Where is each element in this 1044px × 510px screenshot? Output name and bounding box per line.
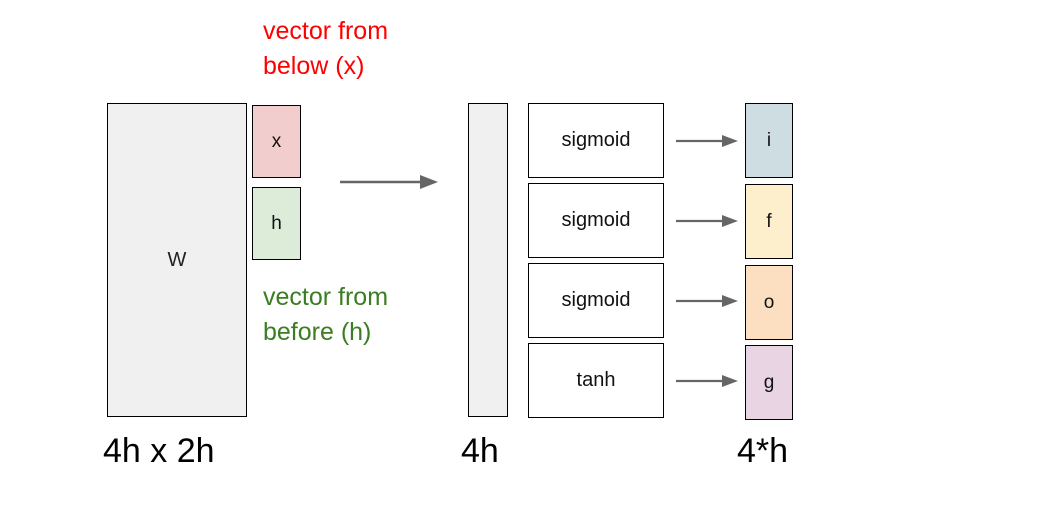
matmul-arrow-icon (340, 172, 438, 192)
gate-box-input: sigmoid (528, 103, 664, 178)
dimension-caption-outputs: 4*h (737, 432, 788, 471)
dimension-caption-preactivation: 4h (461, 432, 499, 471)
weight-matrix-label: W (168, 249, 187, 272)
gate-function-label: sigmoid (562, 289, 631, 312)
dimension-caption-weight-matrix: 4h x 2h (103, 432, 215, 471)
output-block-f: f (745, 184, 793, 259)
output-label-g: g (764, 372, 775, 394)
annotation-input-h: vector from before (h) (263, 280, 388, 350)
annotation-input-x: vector from below (x) (263, 14, 388, 84)
output-block-o: o (745, 265, 793, 340)
gate-output-arrow-icon (676, 133, 738, 149)
gate-function-label: sigmoid (562, 129, 631, 152)
input-vector-block-h: h (252, 187, 301, 260)
gate-box-forget: sigmoid (528, 183, 664, 258)
gate-output-arrow-icon (676, 293, 738, 309)
gate-box-candidate: tanh (528, 343, 664, 418)
gate-output-arrow-icon (676, 373, 738, 389)
gate-output-arrow-icon (676, 213, 738, 229)
input-vector-block-x: x (252, 105, 301, 178)
weight-matrix-w: W (107, 103, 247, 417)
output-label-o: o (764, 292, 775, 314)
lstm-gate-diagram: vector from below (x) W x h vector from … (0, 0, 1044, 510)
gate-function-label: tanh (577, 369, 616, 392)
output-block-g: g (745, 345, 793, 420)
output-label-f: f (766, 211, 771, 233)
input-vector-label-x: x (272, 131, 282, 153)
output-label-i: i (767, 130, 771, 152)
gate-box-output: sigmoid (528, 263, 664, 338)
input-vector-label-h: h (271, 213, 282, 235)
output-block-i: i (745, 103, 793, 178)
preactivation-column-4h (468, 103, 508, 417)
gate-function-label: sigmoid (562, 209, 631, 232)
